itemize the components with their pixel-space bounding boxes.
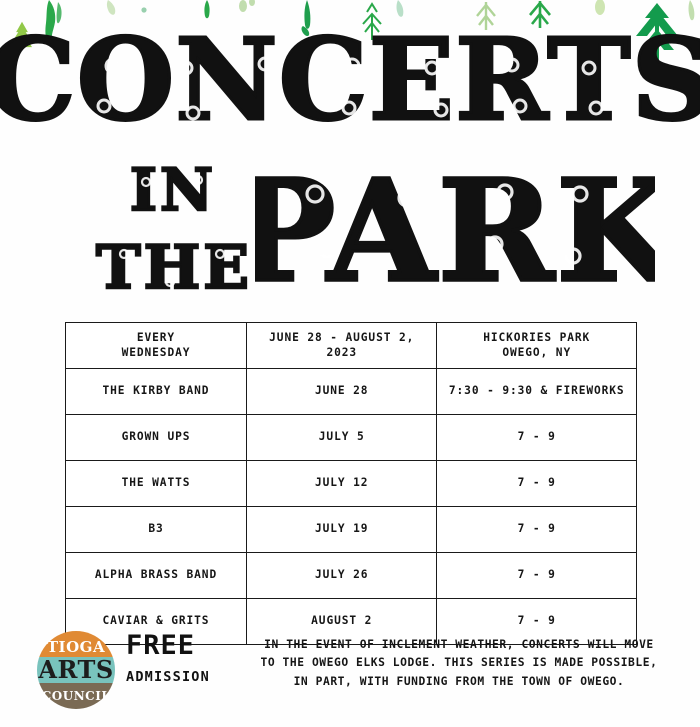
cell-date: JULY 19 xyxy=(246,507,436,553)
title-line-in: IN xyxy=(108,160,238,226)
header-cell-location: HICKORIES PARK OWEGO, NY xyxy=(437,323,637,369)
the-wordmark: THE xyxy=(92,232,257,302)
poster-footer: TIOGA ARTS COUNCIL FREE ADMISSION IN THE… xyxy=(0,618,700,727)
cell-band: B3 xyxy=(66,507,247,553)
cell-date: JULY 5 xyxy=(246,415,436,461)
svg-text:IN: IN xyxy=(130,160,216,222)
header-location-line2: OWEGO, NY xyxy=(441,346,632,361)
svg-text:PARK: PARK xyxy=(255,158,655,308)
cell-date: JULY 26 xyxy=(246,553,436,599)
table-row: GROWN UPS JULY 5 7 - 9 xyxy=(66,415,637,461)
admission-label: ADMISSION xyxy=(126,669,210,685)
header-day-line1: EVERY xyxy=(70,331,242,346)
concert-schedule-table: EVERY WEDNESDAY JUNE 28 - AUGUST 2, 2023… xyxy=(65,322,637,645)
cell-date: JUNE 28 xyxy=(246,369,436,415)
logo-text-arts: ARTS xyxy=(37,655,113,684)
cell-band: GROWN UPS xyxy=(66,415,247,461)
logo-text-tioga: TIOGA xyxy=(47,638,105,656)
table-header-row: EVERY WEDNESDAY JUNE 28 - AUGUST 2, 2023… xyxy=(66,323,637,369)
in-wordmark: IN xyxy=(108,160,238,222)
disclaimer-line-1: IN THE EVENT OF INCLEMENT WEATHER, CONCE… xyxy=(232,636,686,654)
svg-text:CONCERTS: CONCERTS xyxy=(0,18,700,146)
cell-time: 7 - 9 xyxy=(437,415,637,461)
disclaimer-line-2: TO THE OWEGO ELKS LODGE. THIS SERIES IS … xyxy=(232,654,686,672)
table-row: THE KIRBY BAND JUNE 28 7:30 - 9:30 & FIR… xyxy=(66,369,637,415)
cell-date: JULY 12 xyxy=(246,461,436,507)
header-location-line1: HICKORIES PARK xyxy=(441,331,632,346)
disclaimer-text: IN THE EVENT OF INCLEMENT WEATHER, CONCE… xyxy=(232,636,700,691)
cell-time: 7:30 - 9:30 & FIREWORKS xyxy=(437,369,637,415)
table-row: ALPHA BRASS BAND JULY 26 7 - 9 xyxy=(66,553,637,599)
cell-time: 7 - 9 xyxy=(437,507,637,553)
title-line-the: THE xyxy=(92,232,257,306)
disclaimer-line-3: IN PART, WITH FUNDING FROM THE TOWN OF O… xyxy=(232,673,686,691)
free-admission-block: FREE ADMISSION xyxy=(126,632,210,685)
cell-time: 7 - 9 xyxy=(437,461,637,507)
header-day-line2: WEDNESDAY xyxy=(70,346,242,361)
table-row: B3 JULY 19 7 - 9 xyxy=(66,507,637,553)
title-line-concerts: CONCERTS xyxy=(0,18,700,152)
svg-text:THE: THE xyxy=(96,233,252,302)
poster-title-block: CONCERTS IN THE xyxy=(0,0,700,312)
title-line-park: PARK xyxy=(255,158,655,312)
table-row: THE WATTS JULY 12 7 - 9 xyxy=(66,461,637,507)
cell-band: ALPHA BRASS BAND xyxy=(66,553,247,599)
cell-band: THE KIRBY BAND xyxy=(66,369,247,415)
cell-time: 7 - 9 xyxy=(437,553,637,599)
park-wordmark: PARK xyxy=(255,158,655,308)
tioga-arts-council-logo: TIOGA ARTS COUNCIL xyxy=(36,630,116,710)
free-label: FREE xyxy=(126,632,210,660)
logo-text-council: COUNCIL xyxy=(42,689,111,703)
header-cell-daterange: JUNE 28 - AUGUST 2, 2023 xyxy=(246,323,436,369)
header-cell-day: EVERY WEDNESDAY xyxy=(66,323,247,369)
cell-band: THE WATTS xyxy=(66,461,247,507)
concerts-wordmark: CONCERTS xyxy=(0,18,700,148)
